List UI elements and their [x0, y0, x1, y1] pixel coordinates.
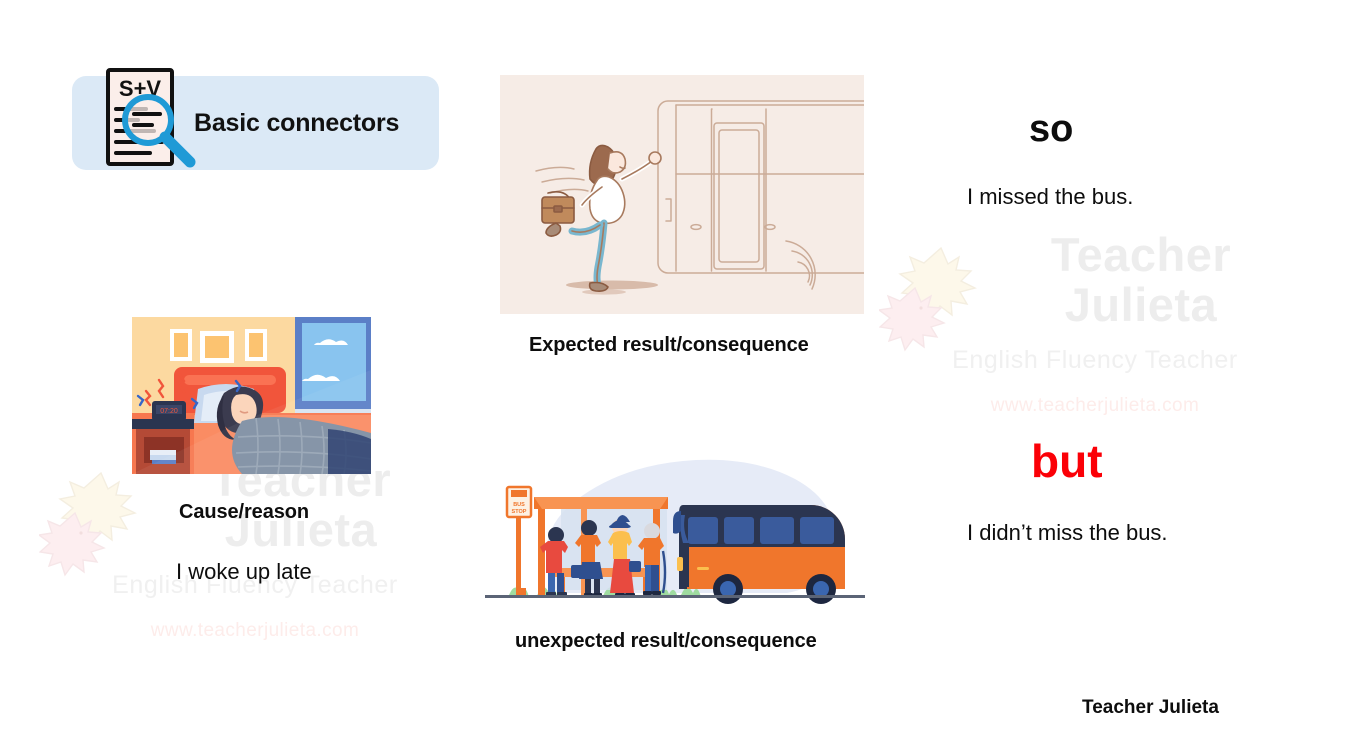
watermark-brand-line2: Julieta: [967, 280, 1315, 330]
watermark-tagline: English Fluency Teacher: [875, 346, 1315, 375]
cause-sentence: I woke up late: [176, 559, 312, 585]
caption-unexpected-result: unexpected result/consequence: [515, 630, 817, 653]
watermark-left: Teacher Julieta English Fluency Teacher …: [35, 455, 475, 642]
document-magnifier-icon: S+V: [92, 64, 210, 176]
bus-stop-waiting-illustration: BUS STOP: [485, 443, 865, 610]
caption-expected-result: Expected result/consequence: [529, 334, 809, 357]
watermark-url: www.teacherjulieta.com: [875, 395, 1315, 417]
connector-word-so: so: [1029, 108, 1073, 151]
svg-text:07:20: 07:20: [160, 408, 178, 415]
maple-leaves-icon: [39, 461, 159, 581]
watermark-right: Teacher Julieta English Fluency Teacher …: [875, 230, 1315, 417]
svg-text:STOP: STOP: [512, 509, 527, 515]
svg-text:BUS: BUS: [513, 502, 525, 508]
connector-word-but: but: [1031, 434, 1103, 488]
footer-credit: Teacher Julieta: [1082, 697, 1219, 719]
connector-sentence-but: I didn’t miss the bus.: [967, 520, 1168, 546]
badge-label: Basic connectors: [194, 109, 399, 138]
maple-leaves-icon: [879, 236, 999, 356]
bedroom-oversleeping-illustration: 07:20: [132, 317, 371, 474]
caption-cause: Cause/reason: [179, 501, 309, 524]
woman-chasing-bus-illustration: [500, 75, 864, 314]
watermark-brand: Teacher Julieta: [875, 230, 1315, 330]
connector-sentence-so: I missed the bus.: [967, 184, 1133, 210]
watermark-brand-line1: Teacher: [967, 230, 1315, 280]
basic-connectors-badge: S+V Basic connectors: [72, 76, 439, 170]
slide-canvas: Teacher Julieta English Fluency Teacher …: [0, 0, 1359, 732]
watermark-url: www.teacherjulieta.com: [35, 620, 475, 642]
